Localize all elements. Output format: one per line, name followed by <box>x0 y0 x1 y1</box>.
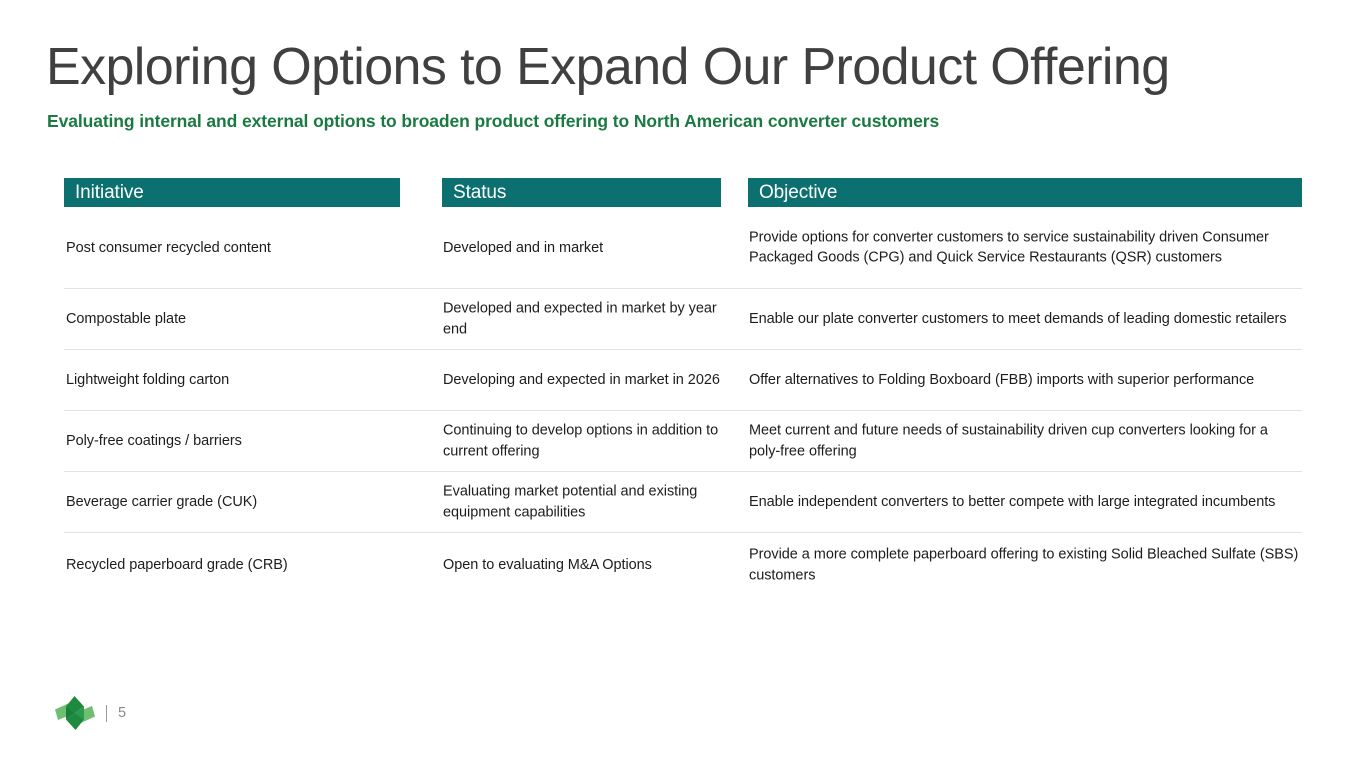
slide-footer: 5 <box>55 696 126 730</box>
cell-initiative: Poly-free coatings / barriers <box>66 431 426 452</box>
cell-initiative: Recycled paperboard grade (CRB) <box>66 555 426 576</box>
cell-objective: Enable our plate converter customers to … <box>749 309 1302 330</box>
cell-initiative: Beverage carrier grade (CUK) <box>66 492 426 513</box>
cell-status: Developed and in market <box>443 237 743 258</box>
table-header-row: Initiative Status Objective <box>64 178 1302 207</box>
cell-status: Open to evaluating M&A Options <box>443 555 743 576</box>
cell-initiative: Post consumer recycled content <box>66 237 426 258</box>
column-header-status: Status <box>442 178 721 207</box>
table-row: Post consumer recycled contentDeveloped … <box>64 207 1302 289</box>
cell-objective: Meet current and future needs of sustain… <box>749 421 1302 462</box>
pinwheel-logo-icon <box>55 696 95 730</box>
cell-initiative: Lightweight folding carton <box>66 370 426 391</box>
table-row: Beverage carrier grade (CUK)Evaluating m… <box>64 472 1302 533</box>
initiatives-table: Initiative Status Objective Post consume… <box>64 178 1302 597</box>
slide-canvas: Exploring Options to Expand Our Product … <box>0 0 1365 768</box>
column-header-objective: Objective <box>748 178 1302 207</box>
page-title: Exploring Options to Expand Our Product … <box>46 36 1170 98</box>
cell-status: Continuing to develop options in additio… <box>443 421 743 462</box>
table-row: Poly-free coatings / barriersContinuing … <box>64 411 1302 472</box>
table-body: Post consumer recycled contentDeveloped … <box>64 207 1302 597</box>
cell-status: Developing and expected in market in 202… <box>443 370 743 391</box>
table-row: Lightweight folding cartonDeveloping and… <box>64 350 1302 411</box>
cell-objective: Offer alternatives to Folding Boxboard (… <box>749 370 1302 391</box>
cell-objective: Enable independent converters to better … <box>749 492 1302 513</box>
page-subtitle: Evaluating internal and external options… <box>47 109 939 133</box>
cell-objective: Provide options for converter customers … <box>749 227 1302 268</box>
table-row: Compostable plateDeveloped and expected … <box>64 289 1302 350</box>
table-row: Recycled paperboard grade (CRB)Open to e… <box>64 533 1302 597</box>
cell-objective: Provide a more complete paperboard offer… <box>749 545 1302 586</box>
page-number: 5 <box>118 705 126 722</box>
cell-status: Evaluating market potential and existing… <box>443 482 743 523</box>
cell-initiative: Compostable plate <box>66 309 426 330</box>
cell-status: Developed and expected in market by year… <box>443 299 743 340</box>
footer-divider <box>106 705 107 722</box>
column-header-initiative: Initiative <box>64 178 400 207</box>
